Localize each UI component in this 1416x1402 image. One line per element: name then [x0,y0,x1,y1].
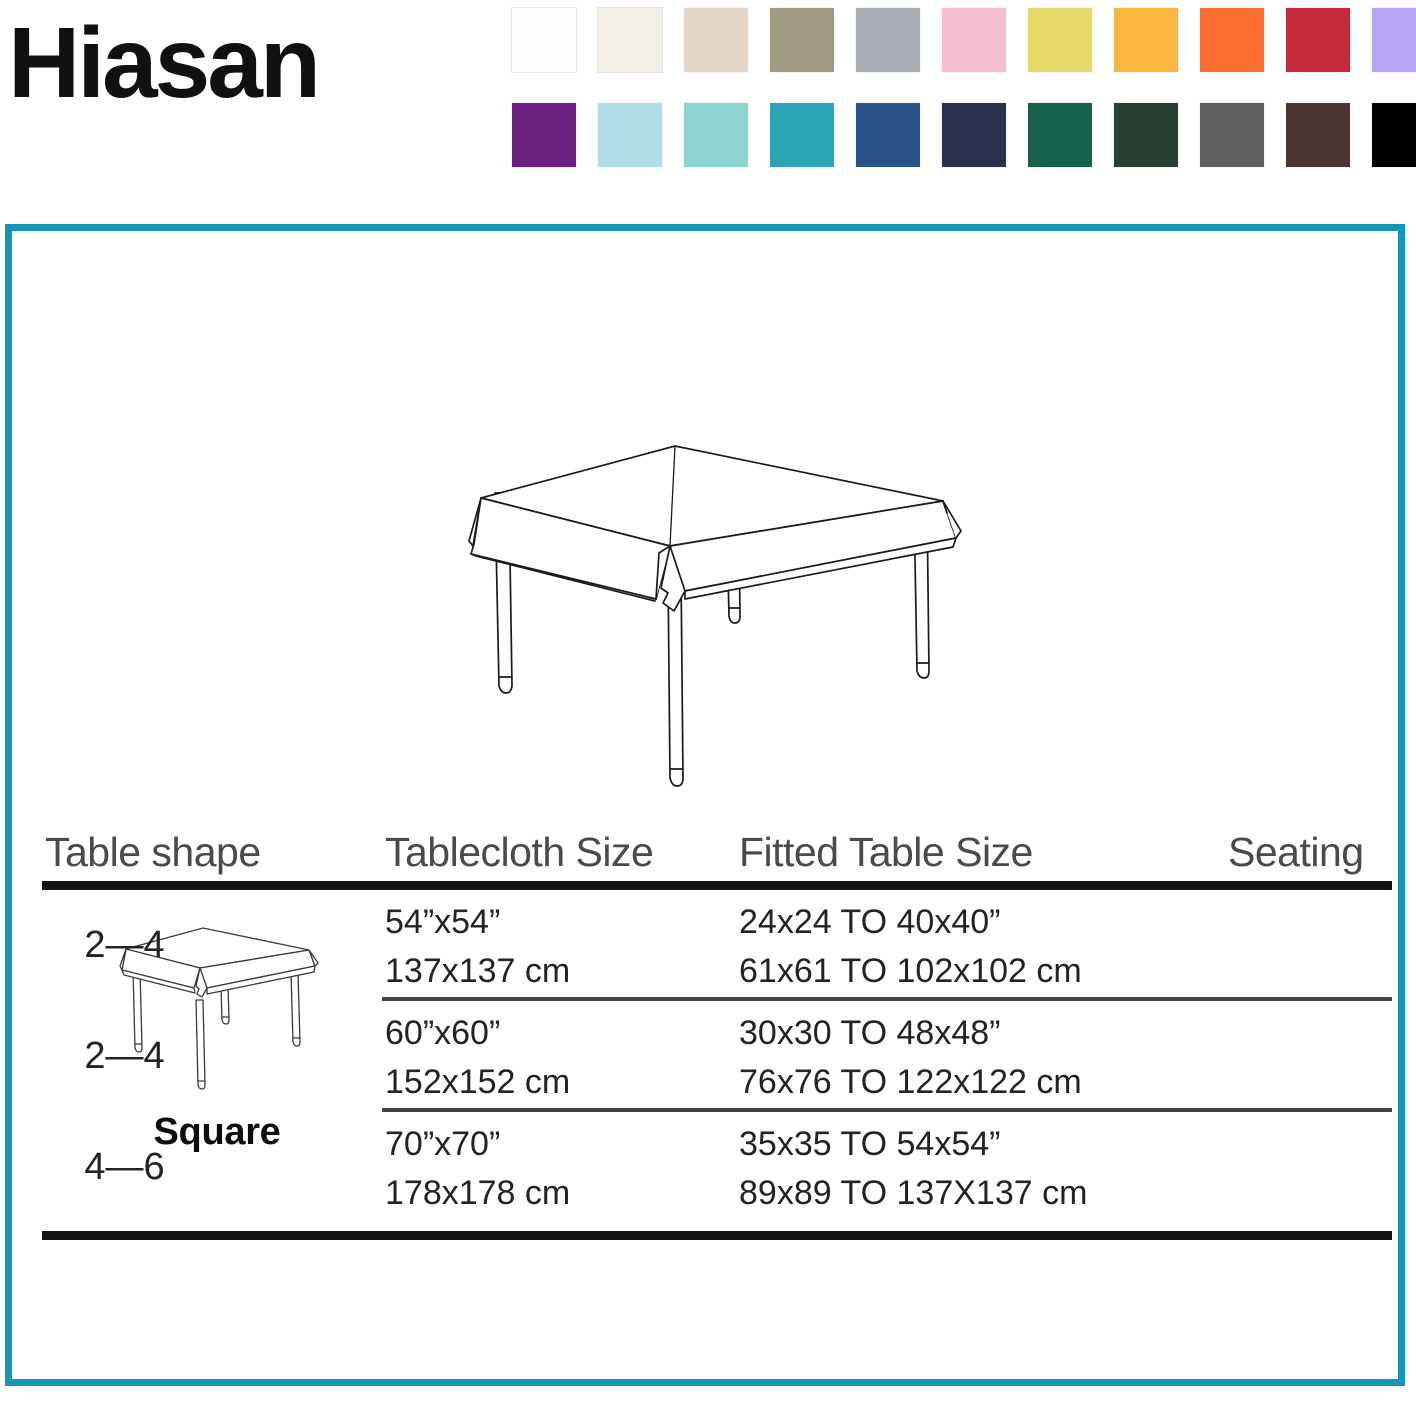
swatch-amber[interactable] [1114,8,1178,72]
table-bottom-divider [42,1231,1392,1240]
tablecloth-size-cm: 152x152 cm [385,1058,570,1107]
table-header-divider [42,881,1392,890]
fitted-table-size-cm: 76x76 TO 122x122 cm [739,1058,1082,1107]
swatch-row-1 [512,8,1408,72]
swatch-powder-blue[interactable] [598,103,662,167]
brand-logo: Hiasan [8,14,478,124]
swatch-aqua[interactable] [684,103,748,167]
swatch-blush-pink[interactable] [942,8,1006,72]
fitted-table-size-cm: 61x61 TO 102x102 cm [739,947,1082,996]
swatch-taupe[interactable] [770,8,834,72]
swatch-purple[interactable] [512,103,576,167]
tablecloth-size-inches: 70”x70” [385,1120,570,1169]
tablecloth-size-cm: 137x137 cm [385,947,570,996]
cell-tablecloth-size: 70”x70” 178x178 cm [385,1120,570,1219]
swatch-lavender[interactable] [1372,8,1416,72]
fitted-table-size-inches: 30x30 TO 48x48” [739,1009,1082,1058]
swatch-black[interactable] [1372,103,1416,167]
info-panel: Table shape Tablecloth Size Fitted Table… [5,224,1405,1386]
column-header-tablecloth-size: Tablecloth Size [385,832,653,873]
column-header-fitted-table-size: Fitted Table Size [739,832,1033,873]
swatch-yellow[interactable] [1028,8,1092,72]
swatch-crimson[interactable] [1286,8,1350,72]
cell-fitted-table-size: 30x30 TO 48x48” 76x76 TO 122x122 cm [739,1009,1082,1108]
swatch-denim-blue[interactable] [856,103,920,167]
cell-seating: 2—4 [37,1001,212,1112]
tablecloth-size-inches: 54”x54” [385,898,570,947]
swatch-gray[interactable] [1200,103,1264,167]
swatch-orange[interactable] [1200,8,1264,72]
svg-text:Hiasan: Hiasan [8,19,318,119]
cell-seating: 4—6 [37,1112,212,1223]
table-row: 60”x60” 152x152 cm 30x30 TO 48x48” 76x76… [37,1001,1392,1112]
column-header-table-shape: Table shape [45,832,261,873]
fitted-table-size-inches: 24x24 TO 40x40” [739,898,1082,947]
swatch-beige[interactable] [684,8,748,72]
tablecloth-size-inches: 60”x60” [385,1009,570,1058]
table-row: 54”x54” 137x137 cm 24x24 TO 40x40” 61x61… [37,890,1392,1001]
swatch-dark-brown[interactable] [1286,103,1350,167]
swatch-white[interactable] [512,8,576,72]
cell-tablecloth-size: 60”x60” 152x152 cm [385,1009,570,1108]
swatch-silver-gray[interactable] [856,8,920,72]
cell-seating: 2—4 [37,890,212,1001]
table-row: 70”x70” 178x178 cm 35x35 TO 54x54” 89x89… [37,1112,1392,1223]
column-header-seating: Seating [1228,832,1364,873]
table-header-row: Table shape Tablecloth Size Fitted Table… [37,811,1392,873]
cell-fitted-table-size: 24x24 TO 40x40” 61x61 TO 102x102 cm [739,898,1082,997]
swatch-ivory[interactable] [598,8,662,72]
swatch-row-2 [512,103,1408,167]
swatch-emerald[interactable] [1028,103,1092,167]
color-swatch-grid [512,8,1408,198]
product-infographic: Hiasan Hiasan [0,0,1416,1402]
fitted-table-size-cm: 89x89 TO 137X137 cm [739,1169,1087,1218]
cell-fitted-table-size: 35x35 TO 54x54” 89x89 TO 137X137 cm [739,1120,1087,1219]
table-body: Square 54”x54” 137x137 cm 24x24 TO 40x40… [37,890,1392,1223]
swatch-teal[interactable] [770,103,834,167]
tablecloth-size-cm: 178x178 cm [385,1169,570,1218]
square-table-with-draped-tablecloth-illustration [427,341,987,801]
swatch-navy[interactable] [942,103,1006,167]
fitted-table-size-inches: 35x35 TO 54x54” [739,1120,1087,1169]
size-table: Table shape Tablecloth Size Fitted Table… [37,811,1392,1240]
swatch-hunter-green[interactable] [1114,103,1178,167]
cell-tablecloth-size: 54”x54” 137x137 cm [385,898,570,997]
